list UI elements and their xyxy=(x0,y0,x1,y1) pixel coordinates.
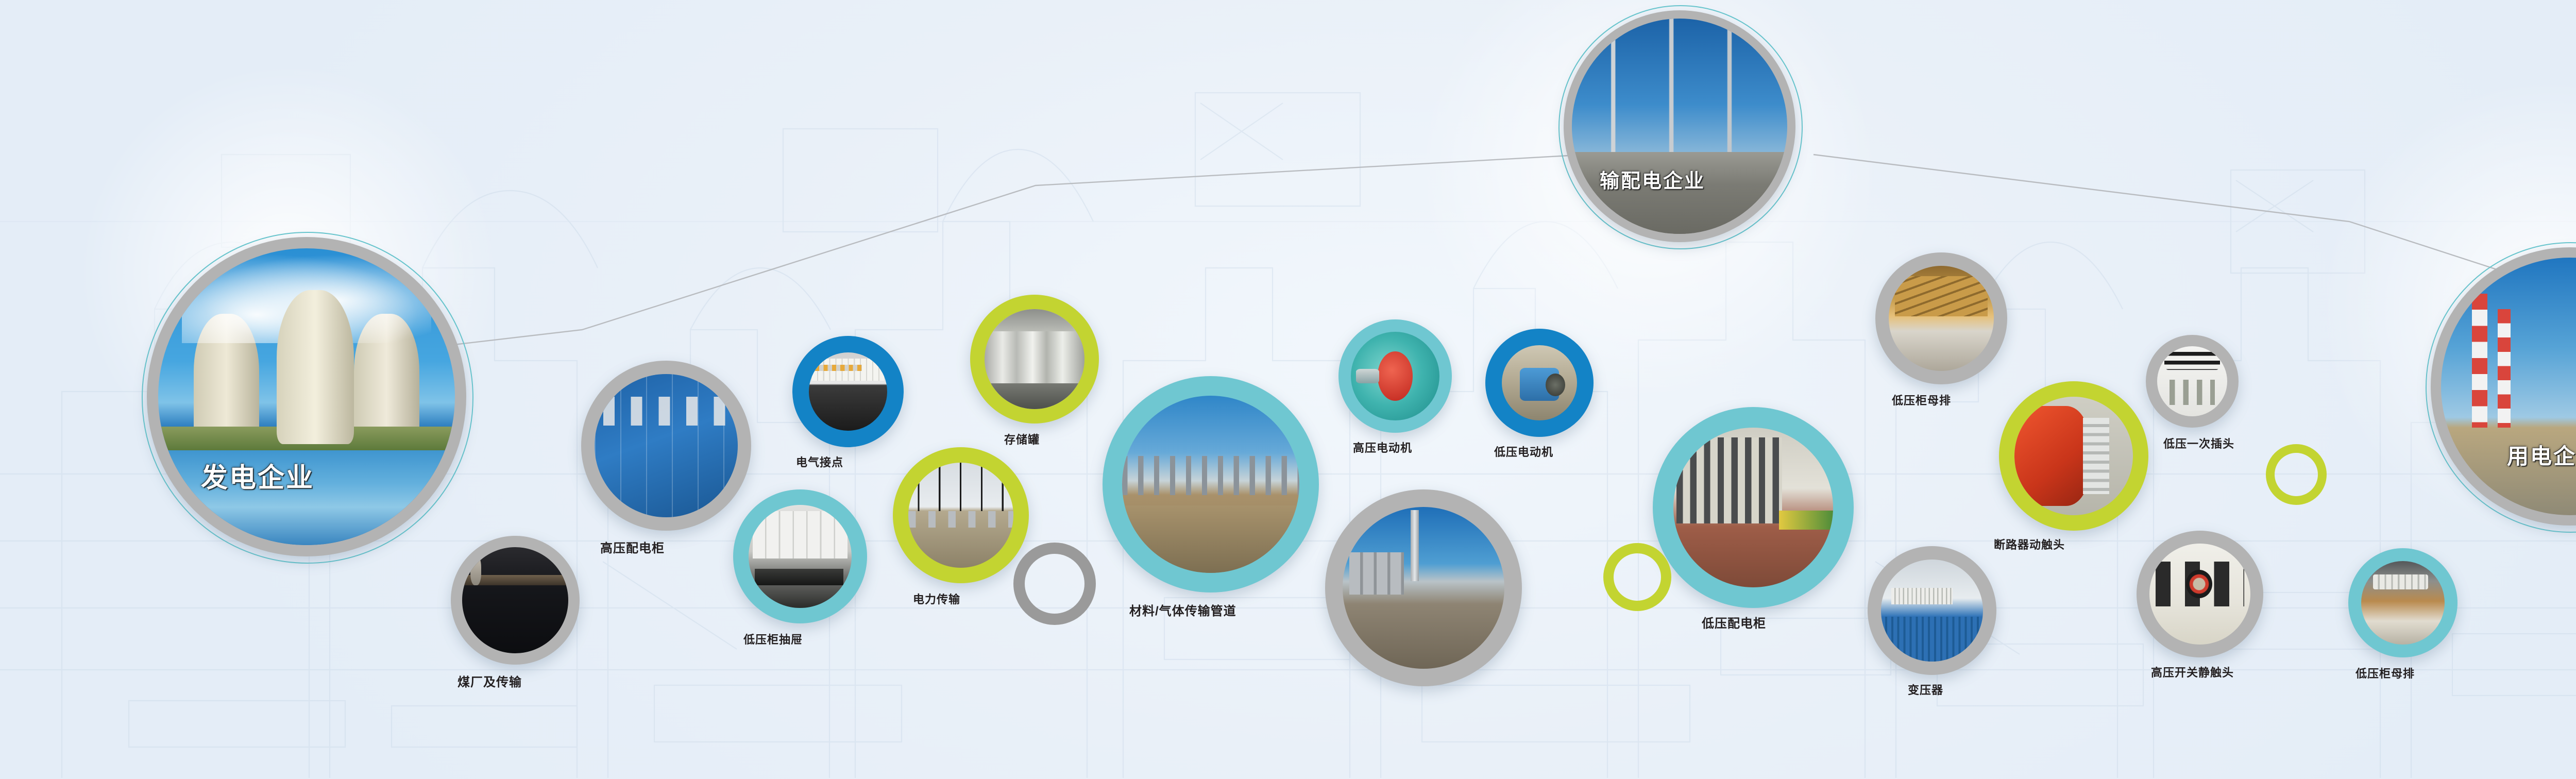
deco-ring-gray xyxy=(1013,543,1096,625)
node-lv-primary-plug[interactable]: 低压一次插头 xyxy=(2146,335,2239,428)
label-breaker-moving-contact: 断路器动触头 xyxy=(1994,536,2065,552)
hero-photo-cooling-towers xyxy=(158,248,455,545)
hero-label-transmission-distribution: 输配电企业 xyxy=(1600,165,1705,193)
hero-photo-substation xyxy=(1572,19,1787,234)
label-hv-motor: 高压电动机 xyxy=(1353,439,1412,455)
label-power-transmission: 电力传输 xyxy=(913,590,960,607)
label-transformer: 变压器 xyxy=(1908,681,1943,698)
hero-node-transmission-distribution[interactable]: 输配电企业 xyxy=(1564,10,1806,252)
label-electrical-contact: 电气接点 xyxy=(796,453,843,470)
photo-refinery-stack xyxy=(1343,507,1504,669)
photo-pipe-rack xyxy=(1122,396,1299,573)
hero-node-power-consumer[interactable]: 用电企业 xyxy=(2431,247,2576,536)
hero-node-power-generation[interactable]: 发电企业 xyxy=(147,237,477,567)
photo-lv-drawer xyxy=(749,505,852,608)
deco-ring-lime xyxy=(1603,543,1671,611)
label-material-gas-pipeline: 材料/气体传输管道 xyxy=(1129,601,1236,619)
node-storage-tank[interactable]: 存储罐 xyxy=(970,295,1099,424)
deco-ring-lime2 xyxy=(2266,444,2327,505)
hero-label-power-consumer: 用电企业 xyxy=(2507,439,2576,470)
photo-lv-motor xyxy=(1502,345,1577,420)
photo-cable-lugs xyxy=(2157,346,2227,416)
node-breaker-moving-contact[interactable]: 断路器动触头 xyxy=(1999,381,2148,531)
photo-lv-switchgear-room xyxy=(1673,428,1833,587)
photo-static-contacts xyxy=(2149,544,2250,645)
photo-hv-switchgear xyxy=(595,374,738,517)
photo-storage-tanks xyxy=(985,309,1084,409)
label-lv-cabinet-drawer: 低压柜抽屉 xyxy=(743,631,803,647)
label-lv-cabinet-busbar-top: 低压柜母排 xyxy=(1892,392,1951,408)
photo-hv-motor xyxy=(1351,332,1439,420)
label-lv-primary-plug: 低压一次插头 xyxy=(2163,435,2234,451)
label-lv-motor: 低压电动机 xyxy=(1494,443,1553,460)
node-lv-cabinet-busbar-bottom[interactable]: 低压柜母排 xyxy=(2348,548,2458,657)
node-process-plant[interactable] xyxy=(1325,489,1522,686)
label-hv-distribution-cabinet: 高压配电柜 xyxy=(600,538,665,556)
photo-terminal-block xyxy=(809,352,887,431)
hero-label-power-generation: 发电企业 xyxy=(201,456,314,495)
node-lv-motor[interactable]: 低压电动机 xyxy=(1485,329,1594,437)
label-lv-cabinet-busbar-bottom: 低压柜母排 xyxy=(2355,665,2415,681)
label-lv-distribution-cabinet: 低压配电柜 xyxy=(1702,613,1766,631)
infographic-canvas: 发电企业 输配电企业 用电企业 高压配电柜 煤厂及传输 电气接点 低压柜抽屉 xyxy=(0,0,2576,779)
node-material-gas-pipeline[interactable]: 材料/气体传输管道 xyxy=(1103,376,1319,592)
node-lv-cabinet-busbar-top[interactable]: 低压柜母排 xyxy=(1875,252,2007,384)
label-coal-plant-conveyor: 煤厂及传输 xyxy=(457,672,522,690)
node-power-transmission[interactable]: 电力传输 xyxy=(893,447,1029,583)
photo-copper-busbars xyxy=(1889,266,1994,371)
node-lv-cabinet-drawer[interactable]: 低压柜抽屉 xyxy=(733,489,867,623)
node-hv-motor[interactable]: 高压电动机 xyxy=(1338,319,1452,433)
node-coal-plant-conveyor[interactable]: 煤厂及传输 xyxy=(451,536,580,665)
node-hv-distribution-cabinet[interactable]: 高压配电柜 xyxy=(581,361,751,531)
photo-busbar-terminals xyxy=(2361,561,2445,645)
label-hv-switch-static-contact: 高压开关静触头 xyxy=(2151,664,2234,680)
node-lv-distribution-cabinet[interactable]: 低压配电柜 xyxy=(1653,407,1854,608)
label-storage-tank: 存储罐 xyxy=(1004,431,1040,447)
node-transformer[interactable]: 变压器 xyxy=(1868,546,1996,675)
photo-coal-conveyor xyxy=(462,547,568,653)
photo-oil-transformer xyxy=(1881,560,1983,662)
photo-substation-insulators xyxy=(908,463,1013,568)
node-hv-switch-static-contact[interactable]: 高压开关静触头 xyxy=(2137,531,2263,657)
photo-red-breaker-poles xyxy=(2014,397,2133,515)
node-electrical-contact[interactable]: 电气接点 xyxy=(792,336,904,447)
